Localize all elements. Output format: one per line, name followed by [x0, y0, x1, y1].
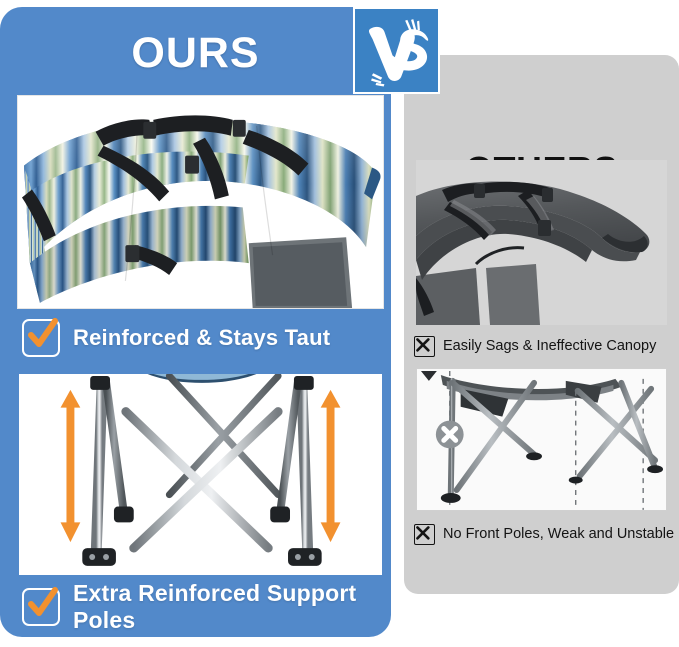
others-feature-1: Easily Sags & Ineffective Canopy — [414, 334, 676, 358]
grey-canopy-illustration — [416, 160, 667, 325]
x-circle-icon — [436, 421, 464, 449]
striped-canopy-illustration — [18, 96, 383, 309]
x-icon — [414, 336, 435, 357]
grey-chair-photo — [416, 368, 667, 511]
ours-title: OURS — [0, 29, 391, 78]
ours-feature-1: Reinforced & Stays Taut — [22, 317, 382, 359]
chair-frame-illustration — [19, 374, 382, 577]
vs-brush-text — [360, 14, 434, 88]
grey-sagging-canopy-photo — [416, 160, 667, 325]
check-icon — [22, 319, 60, 357]
x-icon — [414, 524, 435, 545]
others-feature-1-label: Easily Sags & Ineffective Canopy — [443, 338, 656, 354]
ours-feature-2-label: Extra Reinforced Support Poles — [73, 580, 390, 634]
check-icon — [22, 588, 60, 626]
chair-frame-photo — [17, 372, 384, 577]
ours-feature-2: Extra Reinforced Support Poles — [22, 585, 390, 629]
ours-panel: OURS — [0, 7, 391, 637]
others-feature-2: No Front Poles, Weak and Unstable — [414, 522, 676, 546]
versus-badge — [353, 7, 440, 94]
others-feature-2-label: No Front Poles, Weak and Unstable — [443, 526, 674, 542]
striped-canopy-photo — [17, 95, 384, 309]
ours-feature-1-label: Reinforced & Stays Taut — [73, 325, 330, 351]
grey-chair-illustration — [417, 369, 666, 511]
